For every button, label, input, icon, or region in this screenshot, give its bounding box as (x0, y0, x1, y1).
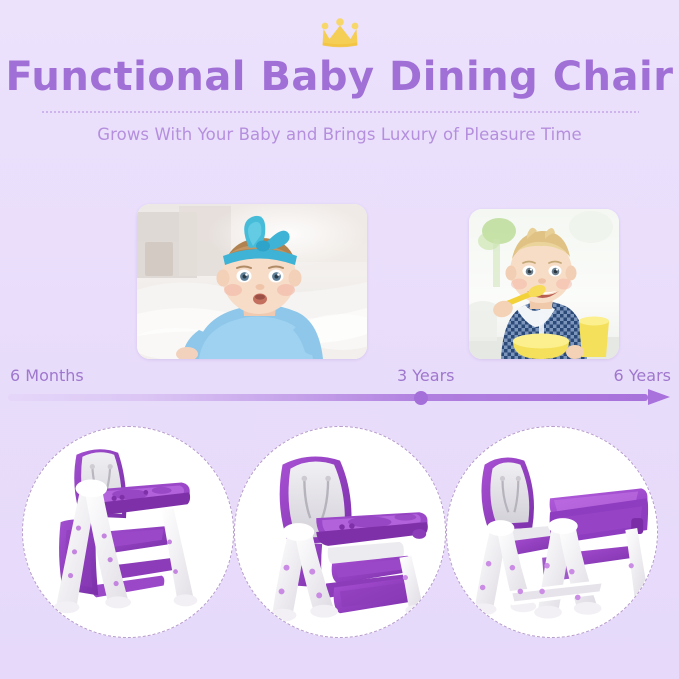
product-infographic-page: Functional Baby Dining Chair Grows With … (0, 0, 679, 679)
booster-chair-illustration (235, 427, 445, 637)
header: Functional Baby Dining Chair Grows With … (0, 0, 679, 144)
product-configurations-row (0, 426, 679, 644)
page-title: Functional Baby Dining Chair (0, 56, 679, 98)
product-high-chair (22, 426, 234, 638)
photo-row (0, 198, 679, 360)
page-subtitle: Grows With Your Baby and Brings Luxury o… (0, 125, 679, 144)
product-booster-chair (234, 426, 446, 638)
timeline-label-mid: 3 Years (397, 366, 454, 385)
toddler-eating-illustration (469, 209, 619, 359)
timeline-label-end: 6 Years (614, 366, 671, 385)
crown-icon-wrap (0, 14, 679, 54)
high-chair-illustration (23, 427, 233, 637)
desk-and-chair-illustration (447, 427, 657, 637)
timeline-arrow-icon (648, 389, 670, 405)
toddler-eating-photo (469, 209, 619, 359)
age-timeline: 6 Months 3 Years 6 Years (0, 366, 679, 414)
crown-icon (317, 17, 363, 51)
product-desk-and-chair (446, 426, 658, 638)
timeline-marker-dot (414, 391, 428, 405)
timeline-track (8, 394, 648, 401)
timeline-label-start: 6 Months (10, 366, 84, 385)
baby-with-blue-headband-photo (137, 204, 367, 359)
dotted-divider (41, 111, 639, 113)
baby-headband-illustration (137, 204, 367, 359)
